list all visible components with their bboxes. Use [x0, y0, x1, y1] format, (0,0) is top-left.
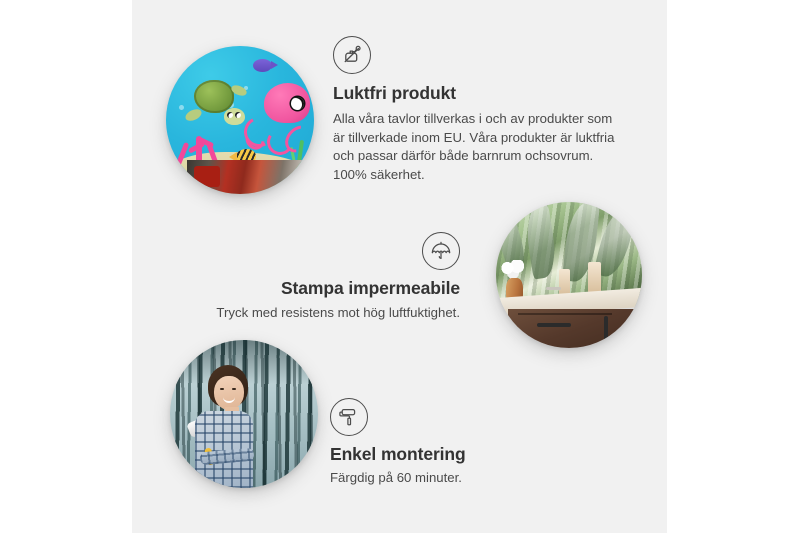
paint-roller-icon: [330, 398, 368, 436]
feature-title: Luktfri produkt: [333, 83, 633, 105]
turtle-head: [224, 108, 245, 125]
underwater-scene: [166, 46, 314, 194]
room-photo-inset: [187, 160, 305, 194]
feature-waterproof: Stampa impermeabile Tryck med resistens …: [180, 232, 460, 323]
feature-description: Alla våra tavlor tillverkas i och av pro…: [333, 110, 620, 185]
leaf-icon: [523, 205, 560, 280]
bottle: [588, 262, 601, 293]
umbrella-icon: [422, 232, 460, 270]
bottle: [559, 269, 570, 295]
image-underwater: [166, 46, 314, 194]
woman-face: [214, 376, 244, 410]
octopus-icon: [264, 83, 310, 123]
promo-banner: Luktfri produkt Alla våra tavlor tillver…: [0, 0, 800, 533]
vanity-cabinet: [508, 309, 642, 348]
faucet: [546, 287, 561, 290]
image-bathroom: [496, 202, 642, 348]
feature-assembly: Enkel montering Färgdig på 60 minuter.: [330, 398, 610, 488]
feature-title: Stampa impermeabile: [180, 278, 460, 300]
painter-scene: [170, 340, 318, 488]
feature-description: Färgdig på 60 minuter.: [330, 469, 610, 488]
feature-description: Tryck med resistens mot hög luftfuktighe…: [180, 304, 460, 323]
feature-odorless: Luktfri produkt Alla våra tavlor tillver…: [333, 36, 633, 185]
octopus-eye: [291, 97, 304, 110]
image-painter: [170, 340, 318, 488]
feature-title: Enkel montering: [330, 444, 610, 466]
bathroom-scene: [496, 202, 642, 348]
no-fragrance-icon: [333, 36, 371, 74]
